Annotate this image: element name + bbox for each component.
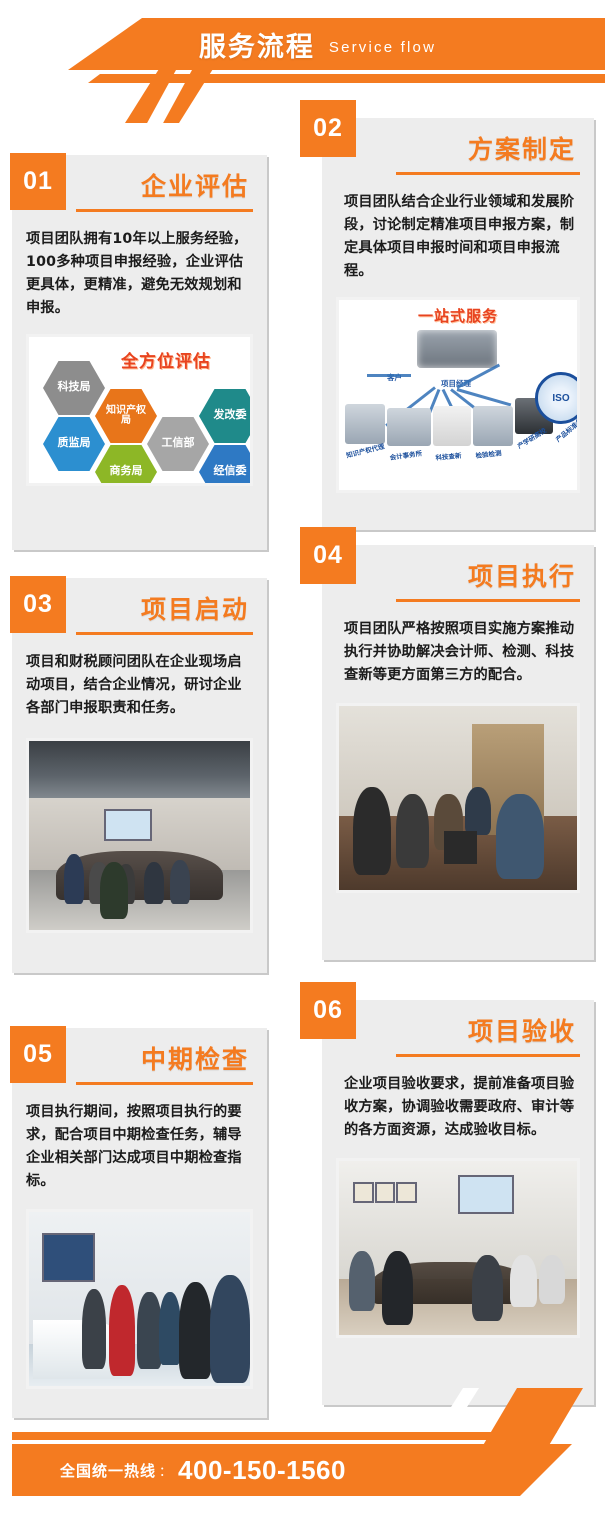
page-title: 服务流程 [199, 25, 315, 64]
photo-person-red-coat [109, 1285, 136, 1375]
step-card-03[interactable]: 项目启动 项目和财税顾问团队在企业现场启动项目，结合企业情况，研讨企业各部门申报… [12, 578, 267, 973]
photo-person [510, 1255, 536, 1307]
iso-seal-icon: ISO [535, 372, 580, 424]
step-body-05: 项目执行期间，按照项目执行的要求，配合项目中期检查任务，辅导企业相关部门达成项目… [26, 1101, 253, 1193]
header-orange-underline-strip [88, 74, 605, 83]
hexagon-jingxin-wei: 经信委 [199, 445, 253, 486]
step-body-06: 企业项目验收要求，提前准备项目验收方案，协调验收需要政府、审计等的各方面资源，达… [344, 1073, 580, 1142]
hexagon-shangwu-ju: 商务局 [95, 445, 157, 486]
step-card-05[interactable]: 中期检查 项目执行期间，按照项目执行的要求，配合项目中期检查任务，辅导企业相关部… [12, 1028, 267, 1418]
title-underline [76, 632, 253, 635]
all-round-assessment-diagram: 全方位评估 科技局 知识产权局 质监局 工信部 商务局 发改委 经信委 [26, 334, 253, 486]
photo-display-monitor [42, 1233, 95, 1282]
photo-laptop [444, 831, 477, 864]
service-node-label-2: 会计事务所 [389, 447, 423, 461]
hotline-number[interactable]: 400-150-1560 [175, 1455, 346, 1486]
photo-ceiling [29, 741, 250, 805]
step-photo-06 [336, 1158, 580, 1338]
photo-projector-screen [458, 1175, 514, 1214]
one-stop-service-diagram: 一站式服务 客户 项目经理 ISO 知识产权代理 会计事务所 科技查新 [336, 297, 580, 493]
photo-person [137, 1292, 161, 1369]
photo-certificate-frame [396, 1182, 417, 1203]
step-card-06[interactable]: 项目验收 企业项目验收要求，提前准备项目验收方案，协调验收需要政府、审计等的各方… [322, 1000, 594, 1405]
photo-person [179, 1282, 212, 1379]
photo-person [159, 1292, 181, 1365]
service-node-label-4: 检验检测 [475, 447, 502, 460]
service-meeting-photo [417, 330, 497, 368]
step-card-04[interactable]: 项目执行 项目团队严格按照项目实施方案推动执行并协助解决会计师、检测、科技查新等… [322, 545, 594, 960]
photo-person [465, 787, 491, 835]
photo-person [144, 862, 164, 904]
hexagon-keji-ju: 科技局 [43, 361, 105, 415]
hexagon-zhijian-ju: 质监局 [43, 417, 105, 471]
photo-person [82, 1289, 106, 1369]
page-footer: 全国统一热线 ： 400-150-1560 [0, 1418, 605, 1538]
photo-person [64, 854, 84, 903]
step-photo-03 [26, 738, 253, 933]
step-body-01: 项目团队拥有10年以上服务经验，100多种项目申报经验，企业评估更具体，更精准，… [26, 228, 253, 320]
step-number-badge-03: 03 [10, 576, 66, 633]
step-photo-05 [26, 1209, 253, 1389]
step-number-badge-04: 04 [300, 527, 356, 584]
photo-person [382, 1251, 413, 1324]
page-subtitle: Service flow [329, 39, 436, 56]
hexagon-zhishi-chanquan-ju: 知识产权局 [95, 389, 157, 443]
photo-whiteboard [104, 809, 152, 841]
step-body-04: 项目团队严格按照项目实施方案推动执行并协助解决会计师、检测、科技查新等更方面第三… [344, 618, 580, 687]
step-number-badge-01: 01 [10, 153, 66, 210]
step-number-badge-05: 05 [10, 1026, 66, 1083]
step-title-02: 方案制定 [344, 118, 580, 166]
title-underline [76, 209, 253, 212]
photo-person [210, 1275, 250, 1383]
photo-person [349, 1251, 375, 1310]
step-number-badge-06: 06 [300, 982, 356, 1039]
step-card-01[interactable]: 企业评估 项目团队拥有10年以上服务经验，100多种项目申报经验，企业评估更具体… [12, 155, 267, 550]
hexagon-fagai-wei: 发改委 [199, 389, 253, 443]
hotline-group: 全国统一热线 ： 400-150-1560 [12, 1444, 532, 1496]
photo-person [496, 794, 544, 879]
service-node-img-1 [345, 404, 385, 444]
title-underline [76, 1082, 253, 1085]
infographic-page: 服务流程 Service flow 企业评估 项目团队拥有10年以上服务经验，1… [0, 0, 605, 1538]
diagram-caption: 全方位评估 [121, 347, 211, 372]
arrow-to-client [367, 374, 411, 377]
photo-certificate-frame [353, 1182, 374, 1203]
footer-orange-top-strip [12, 1432, 557, 1440]
step-title-06: 项目验收 [344, 1000, 580, 1048]
title-underline [396, 599, 580, 602]
step-card-02[interactable]: 方案制定 项目团队结合企业行业领域和发展阶段，讨论制定精准项目申报方案，制定具体… [322, 118, 594, 530]
photo-person [353, 787, 391, 875]
service-node-label-3: 科技查新 [435, 450, 462, 462]
photo-person [396, 794, 429, 868]
photo-person [100, 862, 129, 919]
service-node-img-2 [387, 408, 431, 446]
step-title-04: 项目执行 [344, 545, 580, 593]
arrow-branch-b [457, 388, 512, 406]
page-header: 服务流程 Service flow [0, 0, 605, 105]
service-node-img-3 [433, 406, 471, 446]
photo-certificate-frame [375, 1182, 396, 1203]
hotline-separator: ： [156, 1461, 175, 1480]
service-node-img-4 [473, 406, 513, 446]
header-title-group: 服务流程 Service flow [0, 18, 605, 70]
hotline-label: 全国统一热线 [60, 1460, 156, 1481]
step-number-badge-02: 02 [300, 100, 356, 157]
title-underline [396, 172, 580, 175]
photo-person [539, 1255, 565, 1304]
title-underline [396, 1054, 580, 1057]
service-diagram-caption: 一站式服务 [418, 305, 498, 326]
photo-person [472, 1255, 503, 1321]
photo-person [170, 860, 190, 903]
hexagon-gongxin-bu: 工信部 [147, 417, 209, 471]
step-photo-04 [336, 703, 580, 893]
step-body-03: 项目和财税顾问团队在企业现场启动项目，结合企业情况，研讨企业各部门申报职责和任务… [26, 651, 253, 720]
step-body-02: 项目团队结合企业行业领域和发展阶段，讨论制定精准项目申报方案，制定具体项目申报时… [344, 191, 580, 283]
